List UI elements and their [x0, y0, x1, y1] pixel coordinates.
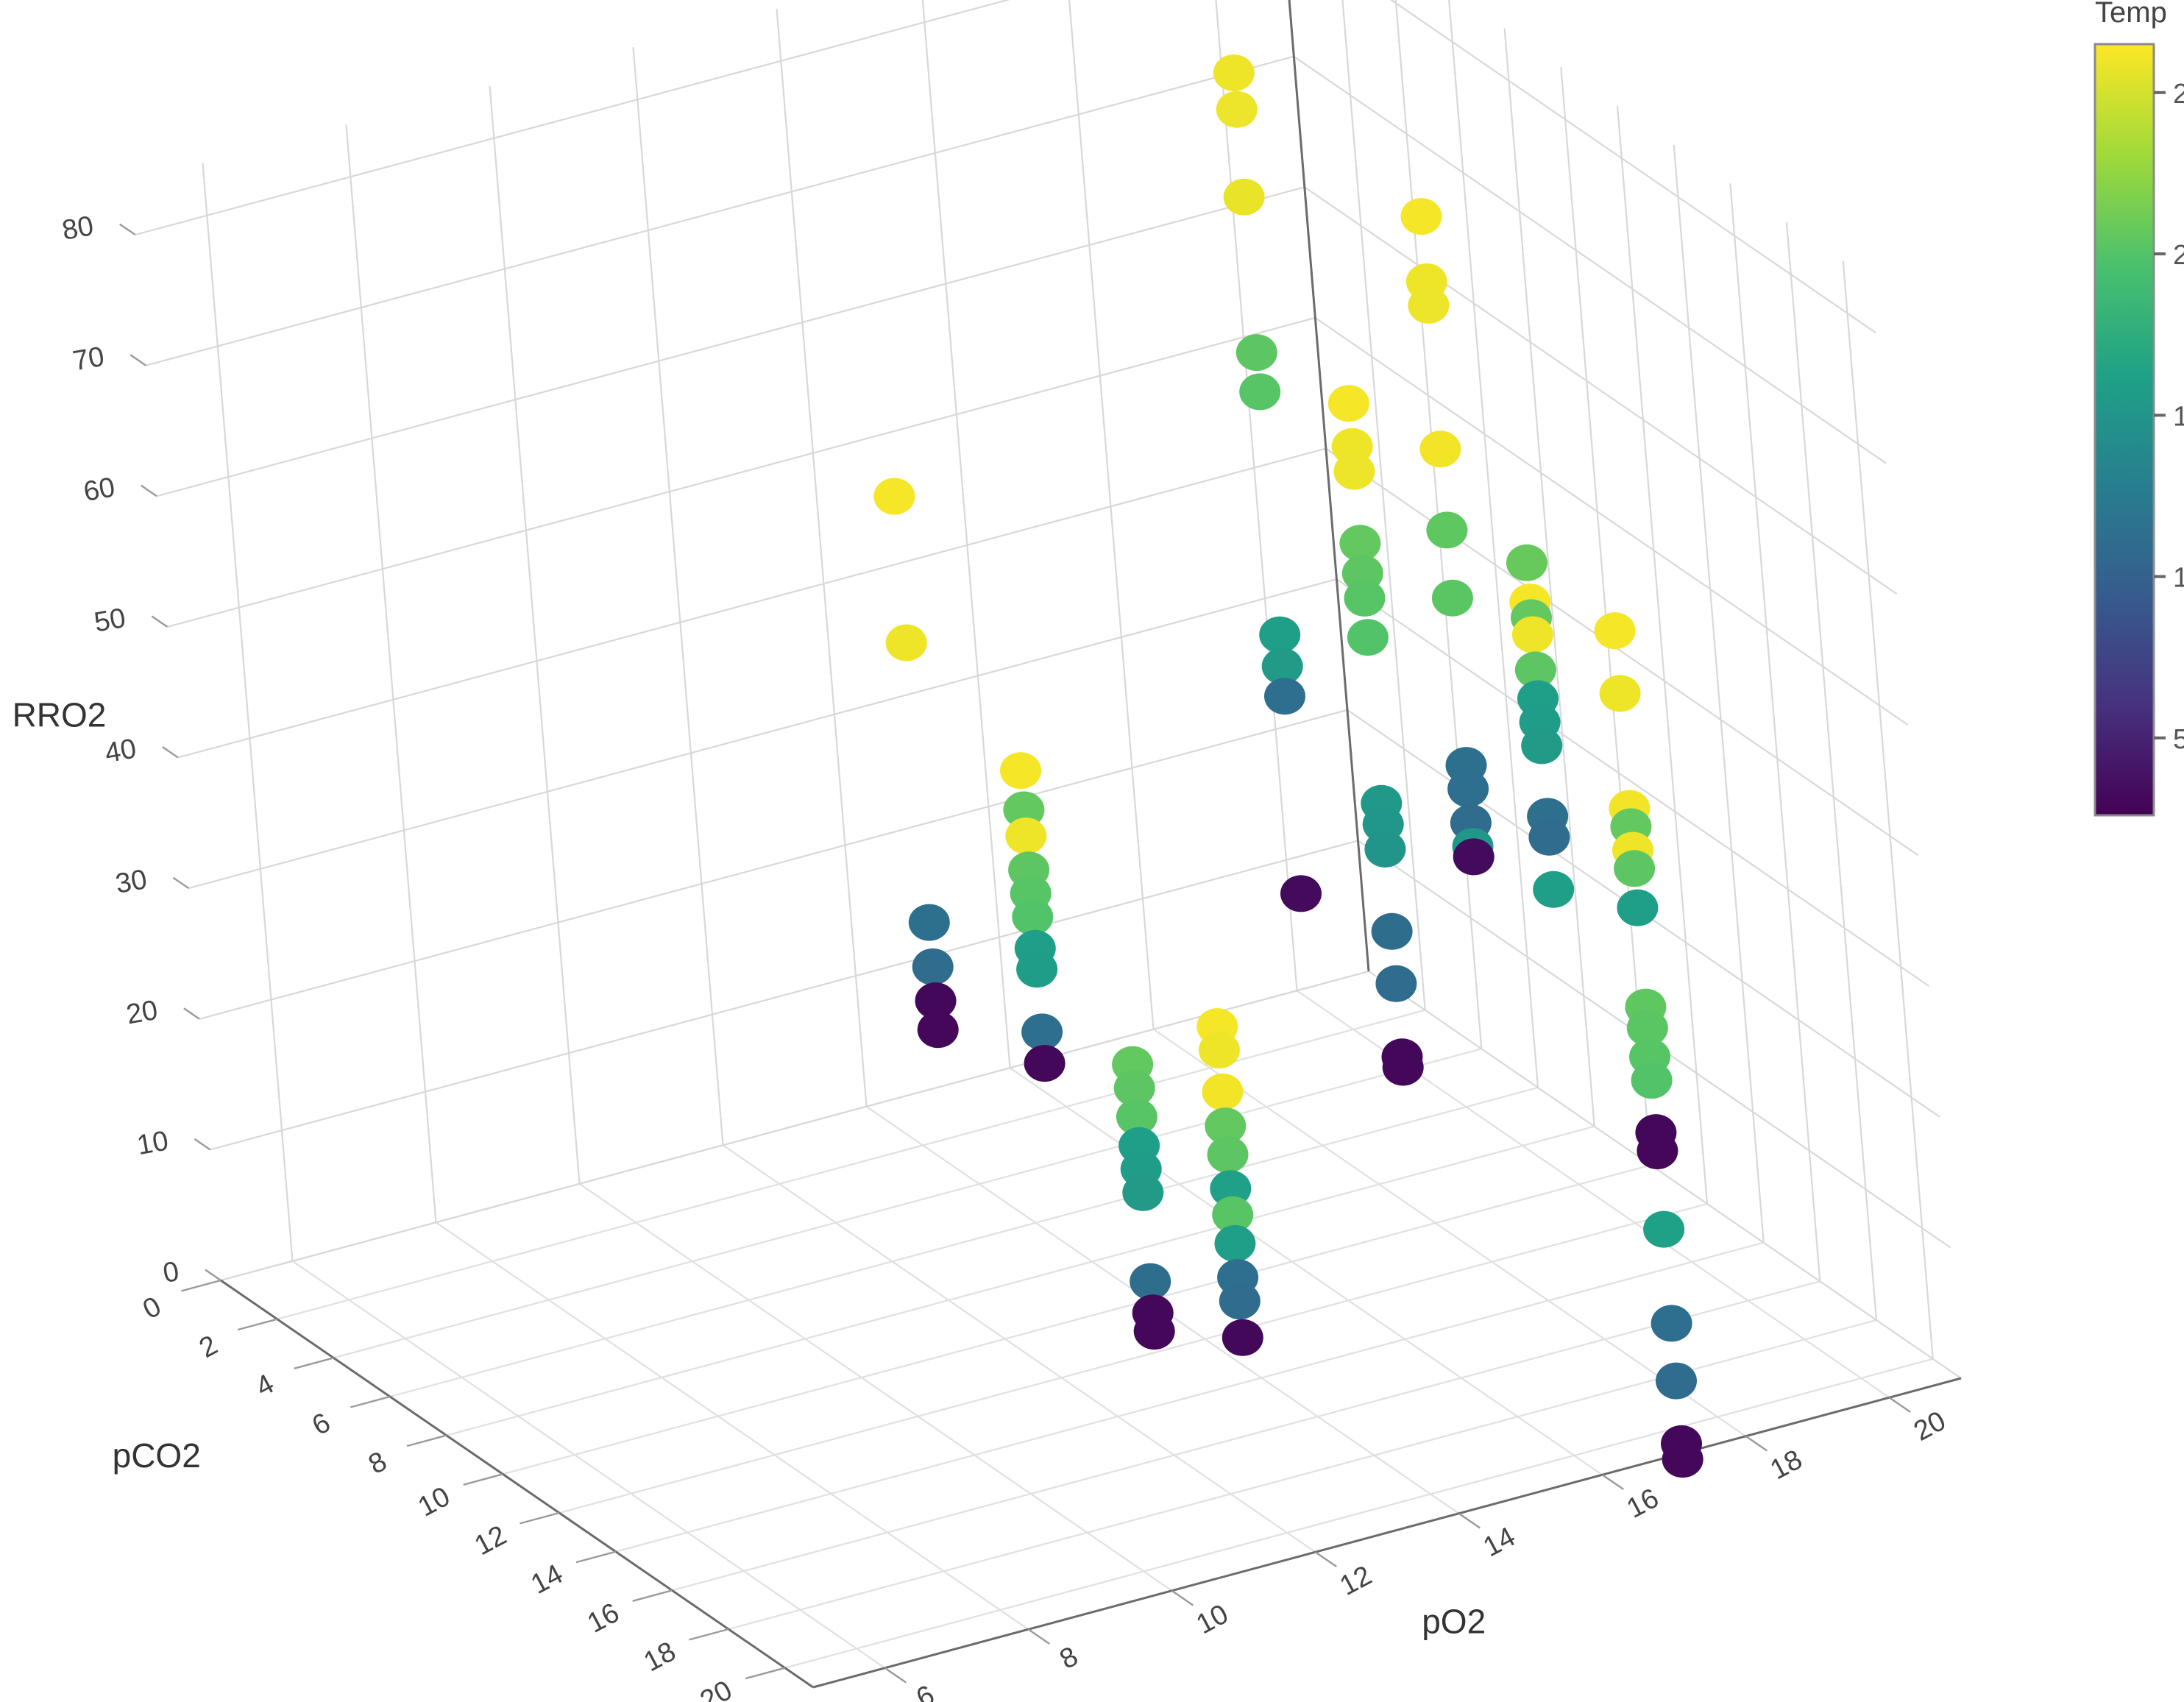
z-tick-label: 30 [113, 864, 149, 900]
scatter-point[interactable] [1364, 831, 1405, 868]
scatter-point[interactable] [1224, 179, 1265, 216]
scatter-point[interactable] [1408, 287, 1449, 324]
y-tick-label: 14 [1478, 1521, 1520, 1563]
y-tick-label: 12 [1335, 1560, 1377, 1602]
y-tick-label: 6 [911, 1679, 939, 1702]
z-tick-label: 80 [60, 210, 96, 247]
scatter-point[interactable] [1213, 54, 1255, 91]
grid-left-wall [135, 0, 1369, 1280]
scatter-point[interactable] [1401, 198, 1442, 235]
scatter-point[interactable] [1651, 1305, 1692, 1341]
scatter-point[interactable] [1134, 1313, 1175, 1350]
x-tick-label: 20 [695, 1675, 737, 1702]
scatter-point[interactable] [909, 904, 950, 941]
scatter-point[interactable] [1432, 580, 1473, 617]
x-tick-label: 10 [414, 1481, 455, 1523]
scatter-point[interactable] [1426, 511, 1467, 548]
scatter-point[interactable] [1024, 1045, 1066, 1082]
y-tick-label: 20 [1909, 1405, 1951, 1447]
scatter-point[interactable] [1021, 1013, 1063, 1050]
x-tick-label: 2 [194, 1330, 222, 1364]
scatter-point[interactable] [1222, 1319, 1263, 1356]
scatter-point[interactable] [1656, 1363, 1697, 1400]
scatter-point[interactable] [1453, 838, 1495, 875]
scatter-point[interactable] [1631, 1062, 1673, 1099]
scatter-point[interactable] [873, 478, 915, 515]
scatter-point[interactable] [1005, 818, 1046, 854]
scatter-point[interactable] [1600, 675, 1641, 712]
scatter-point[interactable] [1344, 580, 1386, 617]
y-tick-label: 16 [1622, 1483, 1664, 1525]
x-tick-label: 6 [308, 1407, 336, 1442]
scatter-point[interactable] [1447, 770, 1489, 807]
y-tick-label: 18 [1765, 1444, 1807, 1486]
scatter-point[interactable] [1595, 612, 1636, 649]
y-tick-label: 10 [1191, 1598, 1233, 1640]
scatter-point[interactable] [1216, 91, 1258, 128]
scatter-point[interactable] [1214, 1225, 1255, 1262]
scatter-point[interactable] [1259, 617, 1300, 653]
plot-canvas: 0246810121416182068101214161820010203040… [0, 0, 2184, 1702]
z-tick-label: 0 [160, 1256, 181, 1289]
x-tick-label: 12 [469, 1520, 511, 1561]
scatter-point[interactable] [918, 1011, 959, 1048]
scatter-point[interactable] [1521, 727, 1562, 764]
axis-labels: pCO2pO2RRO2 [13, 696, 1486, 1641]
scatter-point[interactable] [886, 625, 927, 662]
scatter3d-figure: 0246810121416182068101214161820010203040… [0, 0, 2184, 1702]
x-axis-title: pCO2 [113, 1436, 201, 1475]
scatter-point[interactable] [1219, 1283, 1261, 1319]
scatter-point[interactable] [1419, 430, 1461, 467]
z-tick-label: 60 [81, 472, 117, 508]
z-tick-label: 50 [92, 603, 128, 639]
scatter-point[interactable] [1637, 1132, 1678, 1169]
scatter-point[interactable] [1506, 545, 1547, 581]
x-tick-label: 18 [639, 1636, 681, 1678]
y-tick-label: 8 [1054, 1641, 1082, 1676]
z-axis-title: RRO2 [13, 696, 107, 734]
axis-ticks: 0246810121416182068101214161820010203040… [60, 210, 1951, 1702]
y-axis-title: pO2 [1422, 1603, 1486, 1641]
scatter-point[interactable] [1512, 617, 1553, 653]
x-tick-label: 8 [364, 1446, 391, 1481]
x-tick-label: 0 [138, 1291, 166, 1325]
scatter-point[interactable] [1236, 334, 1277, 371]
z-tick-label: 20 [124, 995, 160, 1031]
z-tick-label: 10 [135, 1125, 171, 1161]
scatter-point[interactable] [1533, 871, 1574, 908]
scatter-point[interactable] [1239, 373, 1280, 410]
scatter-point[interactable] [1264, 678, 1305, 715]
scatter-point[interactable] [1208, 1136, 1249, 1173]
scatter-point[interactable] [1202, 1074, 1244, 1110]
scatter-point[interactable] [1333, 453, 1375, 490]
x-tick-label: 4 [251, 1369, 279, 1403]
scatter-point[interactable] [912, 948, 954, 985]
z-tick-label: 70 [71, 341, 107, 377]
scatter-point[interactable] [1614, 850, 1655, 887]
x-tick-label: 16 [583, 1598, 625, 1639]
scatter-point[interactable] [1130, 1263, 1171, 1300]
scatter-point[interactable] [1012, 898, 1053, 935]
scatter-point[interactable] [1000, 752, 1041, 789]
x-tick-label: 14 [526, 1559, 568, 1600]
scatter-point[interactable] [1328, 385, 1369, 422]
scatter-point[interactable] [1016, 951, 1057, 987]
scatter-point[interactable] [1372, 913, 1413, 950]
scatter-point[interactable] [1617, 890, 1658, 926]
scatter-point[interactable] [1375, 965, 1417, 1002]
data-markers[interactable] [873, 0, 1703, 1478]
scatter-point[interactable] [1383, 1049, 1424, 1086]
scatter-point[interactable] [1528, 819, 1570, 856]
scatter-point[interactable] [1122, 1174, 1163, 1211]
scatter-point[interactable] [1347, 619, 1389, 656]
scatter-point[interactable] [1199, 1032, 1240, 1068]
axis-spines [221, 0, 1961, 1687]
scatter-point[interactable] [1280, 875, 1322, 912]
scatter-point[interactable] [1643, 1211, 1684, 1248]
z-tick-label: 40 [102, 734, 138, 770]
scatter-point[interactable] [1662, 1441, 1703, 1478]
